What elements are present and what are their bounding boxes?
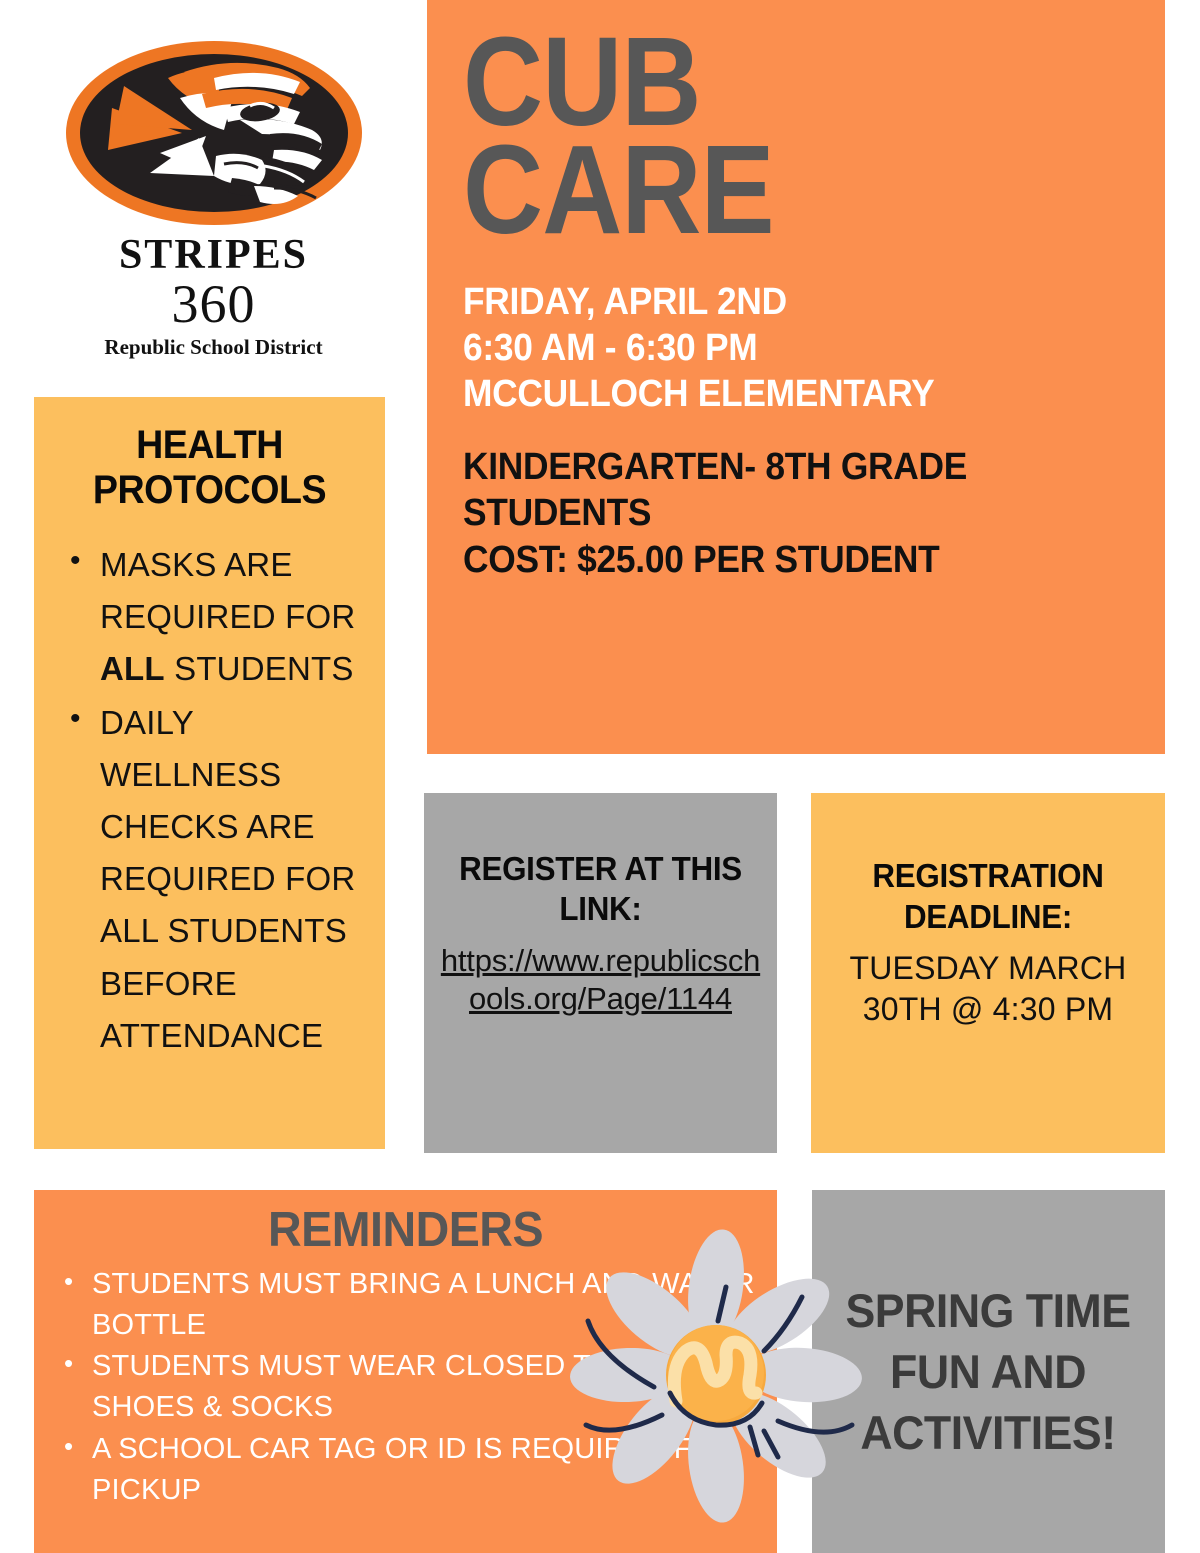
event-audience-group: KINDERGARTEN- 8TH GRADE STUDENTS COST: $… [463,444,1131,583]
logo-district-text: Republic School District [104,337,322,358]
title-line-2: CARE [463,136,1051,244]
reminders-list: STUDENTS MUST BRING A LUNCH AND WATER BO… [54,1264,757,1511]
health-protocols-block: HEALTH PROTOCOLS MASKS ARE REQUIRED FOR … [34,397,385,1149]
logo-360-text: 360 [172,276,256,333]
logo-stripes-text: STRIPES [119,234,308,276]
register-title: REGISTER AT THIS LINK: [448,849,753,930]
register-link-block: REGISTER AT THIS LINK: https://www.repub… [424,793,777,1153]
deadline-value-line-1: TUESDAY MARCH [849,950,1126,986]
register-title-line-2: LINK: [559,890,641,927]
spring-line-2: FUN AND [891,1345,1087,1398]
health-title-line-2: PROTOCOLS [93,468,326,512]
list-item: STUDENTS MUST WEAR CLOSED TOED SHOES & S… [58,1346,757,1428]
health-item-0-bold: ALL [100,650,165,687]
health-item-0-post: STUDENTS [165,650,354,687]
event-cost: COST: $25.00 PER STUDENT [463,537,1084,583]
deadline-title-line-2: DEADLINE: [904,898,1072,935]
health-protocols-title: HEALTH PROTOCOLS [61,423,357,513]
tiger-head-logo-icon [64,38,364,228]
deadline-title: REGISTRATION DEADLINE: [837,855,1139,938]
health-item-0-pre: MASKS ARE REQUIRED FOR [100,546,355,635]
event-date: FRIDAY, APRIL 2ND [463,279,1084,325]
registration-url-link[interactable]: https://www.republicschools.org/Page/114… [440,942,761,1020]
health-protocols-list: MASKS ARE REQUIRED FOR ALL STUDENTS DAIL… [52,539,367,1062]
list-item: A SCHOOL CAR TAG OR ID IS REQUIRED FOR P… [58,1429,757,1511]
event-header-block: CUB CARE FRIDAY, APRIL 2ND 6:30 AM - 6:3… [427,0,1165,754]
event-grades-line-1: KINDERGARTEN- 8TH GRADE [463,444,1084,490]
district-logo-block: STRIPES 360 Republic School District [0,0,427,380]
spring-line-3: ACTIVITIES! [861,1406,1116,1459]
deadline-value: TUESDAY MARCH 30TH @ 4:30 PM [829,948,1147,1031]
deadline-title-line-1: REGISTRATION [872,857,1103,894]
reminders-block: REMINDERS STUDENTS MUST BRING A LUNCH AN… [34,1190,777,1553]
health-item-1-pre: DAILY WELLNESS CHECKS ARE REQUIRED FOR A… [100,704,355,1054]
event-location: MCCULLOCH ELEMENTARY [463,371,1084,417]
spring-activities-block: SPRING TIME FUN AND ACTIVITIES! [812,1190,1165,1553]
list-item: MASKS ARE REQUIRED FOR ALL STUDENTS [66,539,367,695]
page-title: CUB CARE [463,28,1051,245]
spring-line-1: SPRING TIME [846,1284,1131,1337]
reminders-title: REMINDERS [72,1204,740,1258]
register-title-line-1: REGISTER AT THIS [459,850,742,887]
list-item: DAILY WELLNESS CHECKS ARE REQUIRED FOR A… [66,697,367,1062]
deadline-value-line-2: 30TH @ 4:30 PM [863,991,1114,1027]
registration-deadline-block: REGISTRATION DEADLINE: TUESDAY MARCH 30T… [811,793,1165,1153]
health-title-line-1: HEALTH [136,423,283,467]
spring-activities-text: SPRING TIME FUN AND ACTIVITIES! [846,1280,1131,1463]
list-item: STUDENTS MUST BRING A LUNCH AND WATER BO… [58,1264,757,1346]
event-grades-line-2: STUDENTS [463,490,1084,536]
event-time: 6:30 AM - 6:30 PM [463,325,1084,371]
